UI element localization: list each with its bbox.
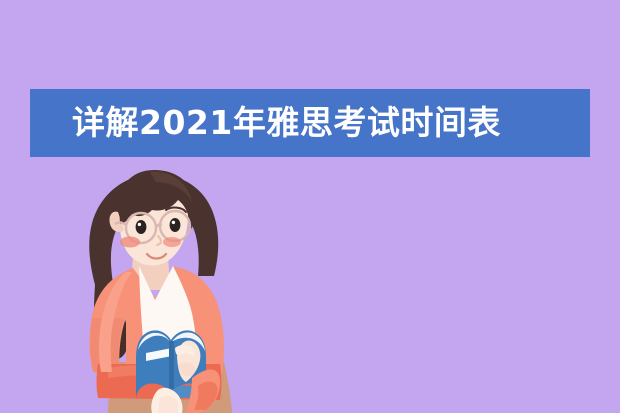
eye-left (136, 220, 147, 234)
blush-right (163, 237, 181, 247)
eye-left-highlight (138, 223, 141, 226)
illustration-girl-reading (0, 150, 620, 413)
eye-right-highlight (172, 221, 175, 224)
poster-canvas: 详解2021年雅思考试时间表 (0, 0, 620, 413)
book-spine-shadow (169, 341, 174, 396)
blush-left (120, 237, 140, 248)
eye-right (170, 218, 181, 232)
page-title: 详解2021年雅思考试时间表 (72, 89, 572, 157)
